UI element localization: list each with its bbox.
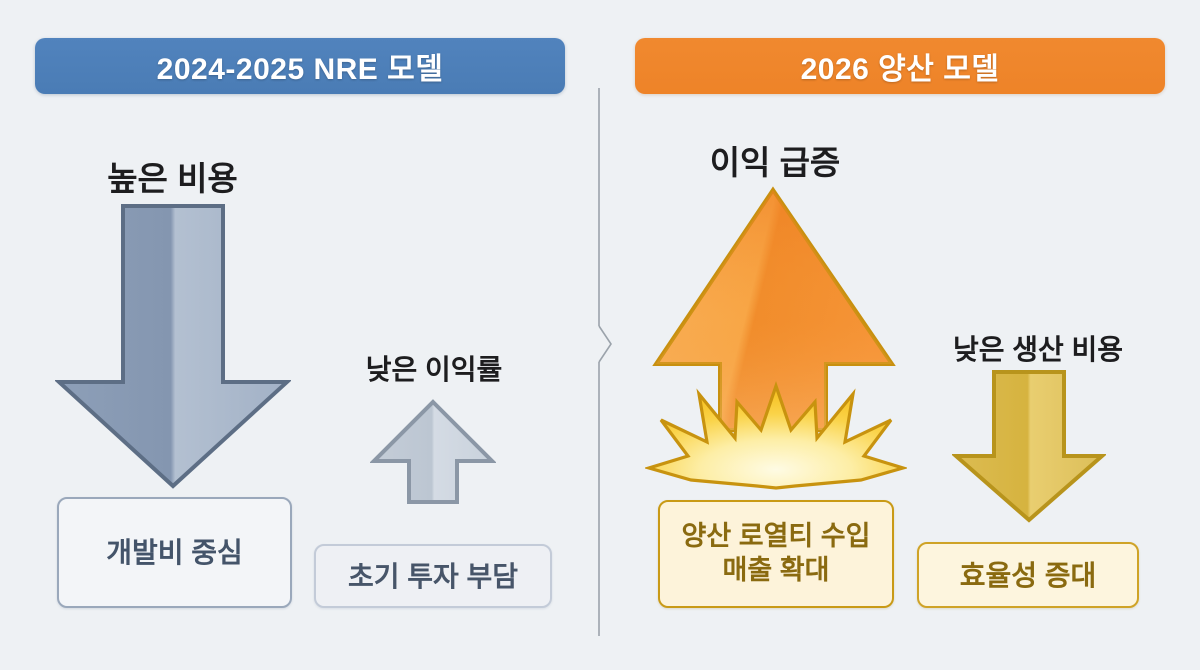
outcome-box-initial-investment: 초기 투자 부담 [314,544,552,608]
caption-low-margin: 낮은 이익률 [340,348,528,388]
panel-divider [578,88,622,636]
caption-high-cost: 높은 비용 [60,152,285,200]
arrow-down-icon-low-production-cost [952,368,1106,524]
left-panel-header: 2024-2025 NRE 모델 [35,38,565,94]
starburst-icon [645,372,907,490]
outcome-box-label: 초기 투자 부담 [348,559,518,594]
left-panel-title: 2024-2025 NRE 모델 [157,44,444,88]
outcome-box-label-line1: 양산 로열티 수입 [682,520,871,554]
caption-profit-surge: 이익 급증 [660,136,890,184]
caption-low-production-cost: 낮은 생산 비용 [918,328,1158,368]
outcome-box-dev-cost-focus: 개발비 중심 [57,497,292,608]
outcome-box-label: 개발비 중심 [106,535,243,570]
divider-line-icon [578,88,622,636]
outcome-box-royalty-revenue: 양산 로열티 수입 매출 확대 [658,500,894,608]
right-panel-header: 2026 양산 모델 [635,38,1165,94]
arrow-down-icon-high-cost [55,202,291,490]
arrow-up-icon-low-margin [370,398,496,506]
infographic-canvas: 2024-2025 NRE 모델 2026 양산 모델 높은 비용 [0,0,1200,670]
outcome-box-label: 양산 로열티 수입 매출 확대 [682,520,871,588]
chevron-right-icon [599,326,611,362]
outcome-box-label-line2: 매출 확대 [682,554,871,588]
outcome-box-label: 효율성 증대 [960,558,1097,593]
right-panel-title: 2026 양산 모델 [801,44,1000,88]
outcome-box-efficiency-gain: 효율성 증대 [917,542,1139,608]
